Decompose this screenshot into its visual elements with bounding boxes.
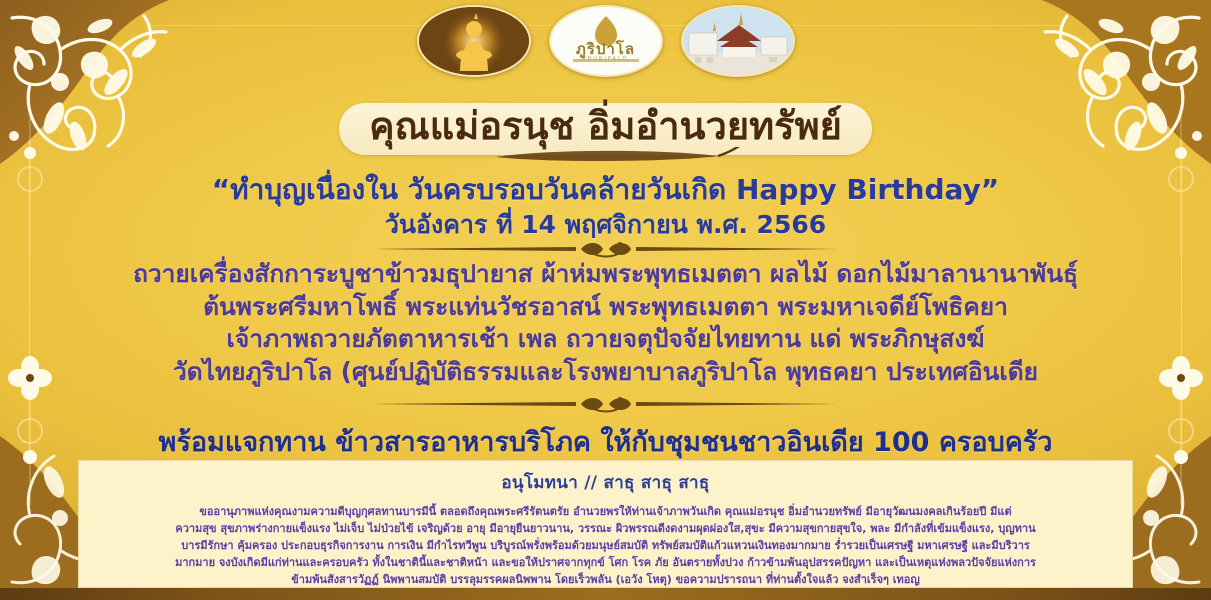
merit-line-3: เจ้าภาพถวายภัตตาหารเช้า เพล ถวายจตุปัจจั…	[0, 323, 1211, 356]
blessing-panel: อนุโมทนา // สาธุ สาธุ สาธุ ขออานุภาพแห่ง…	[78, 460, 1133, 588]
buddha-emblem	[417, 5, 531, 77]
blessing-line-5: ข้ามพ้นสังสารวัฏฏ์ นิพพานสมบัติ บรรลุมรร…	[96, 571, 1115, 588]
blessing-line-2: ความสุข สุขภาพร่างกายแข็งแรง ไม่เจ็บ ไม่…	[96, 520, 1115, 537]
flourish-divider-top	[371, 238, 841, 260]
honoree-title-block: คุณแม่อรนุช อิ่มอำนวยทรัพย์	[0, 103, 1211, 159]
blessing-line-1: ขออานุภาพแห่งคุณงามความดีบุญกุศลทานบารมี…	[96, 503, 1115, 520]
phuripalo-logo-emblem: ภูริปาโล PHURIPALO	[549, 5, 663, 77]
merit-line-1: ถวายเครื่องสักการะบูชาข้าวมธุปายาส ผ้าห่…	[0, 258, 1211, 291]
birthday-merit-poster: ภูริปาโล PHURIPALO คุณแม่อรนุช	[0, 0, 1211, 600]
flourish-divider-bottom	[371, 393, 841, 415]
header-emblem-row: ภูริปาโล PHURIPALO	[0, 4, 1211, 78]
temple-photo-emblem	[681, 5, 795, 77]
phuripalo-logo-sublabel: PHURIPALO	[551, 56, 661, 62]
blessing-line-4: มากมาย จงบังเกิดมีแก่ท่านและครอบครัว ทั้…	[96, 554, 1115, 571]
merit-line-4: วัดไทยภูริปาโล (ศูนย์ปฏิบัติธรรมและโรงพย…	[0, 356, 1211, 389]
merit-description-block: ถวายเครื่องสักการะบูชาข้าวมธุปายาส ผ้าห่…	[0, 258, 1211, 388]
blessing-text: ขออานุภาพแห่งคุณงามความดีบุญกุศลทานบารมี…	[78, 503, 1133, 588]
anumodana-line: อนุโมทนา // สาธุ สาธุ สาธุ	[78, 460, 1133, 496]
title-swash-ornament	[456, 147, 756, 167]
footer-band	[0, 588, 1211, 600]
blessing-line-3: บารมีรักษา คุ้มครอง ประกอบธุรกิจการงาน ก…	[96, 537, 1115, 554]
rice-donation-highlight: พร้อมแจกทาน ข้าวสารอาหารบริโภค ให้กับชุม…	[0, 420, 1211, 463]
honoree-name: คุณแม่อรนุช อิ่มอำนวยทรัพย์	[369, 104, 842, 148]
merit-line-2: ต้นพระศรีมหาโพธิ์ พระแท่นวัชรอาสน์ พระพุ…	[0, 291, 1211, 324]
